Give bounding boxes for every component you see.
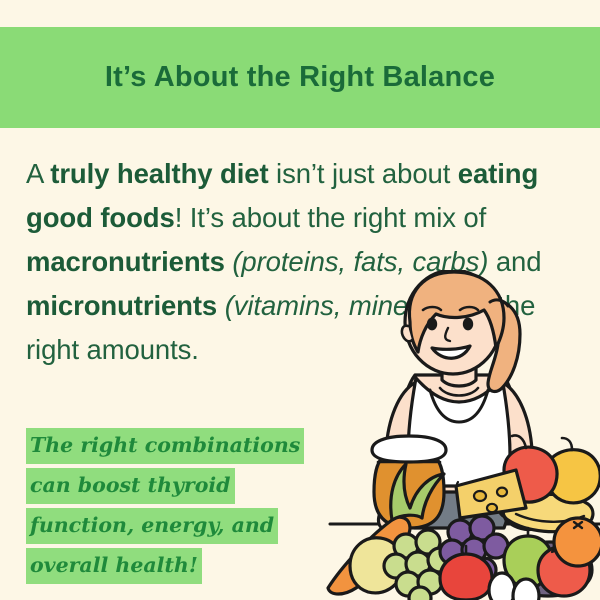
food-cheese-hole-3 [487,504,497,512]
food-egg-1 [489,573,515,600]
food-cheese-hole-2 [497,488,507,497]
body-segment-plain-1: A [26,158,50,189]
body-segment-space-2 [217,290,225,321]
callout-line-3: function, energy, and [26,508,278,544]
body-segment-plain-3: ! It’s about the right mix of [175,202,486,233]
food-jam-jar-lid [372,436,446,462]
food-jam-jar [374,458,444,528]
infographic-card: It’s About the Right Balance A truly hea… [0,0,600,600]
body-segment-bold-micronutrients: micronutrients [26,290,217,321]
woman-left-eye [427,318,437,331]
body-segment-plain-2: isn’t just about [269,158,458,189]
food-apple-red [440,554,492,600]
body-segment-bold-macronutrients: macronutrients [26,246,225,277]
callout-line-4: overall health! [26,548,202,584]
page-title: It’s About the Right Balance [105,61,495,94]
illustration-woman-with-healthy-food [320,270,600,600]
food-cheese-hole-1 [474,491,486,501]
body-segment-bold-truly-healthy-diet: truly healthy diet [50,158,268,189]
woman-right-eye [463,318,473,331]
highlighted-callout: The right combinations can boost thyroid… [26,428,326,588]
header-banner: It’s About the Right Balance [0,27,600,128]
food-egg-2 [513,579,539,600]
callout-line-2: can boost thyroid [26,468,235,504]
callout-line-1: The right combinations [26,428,304,464]
